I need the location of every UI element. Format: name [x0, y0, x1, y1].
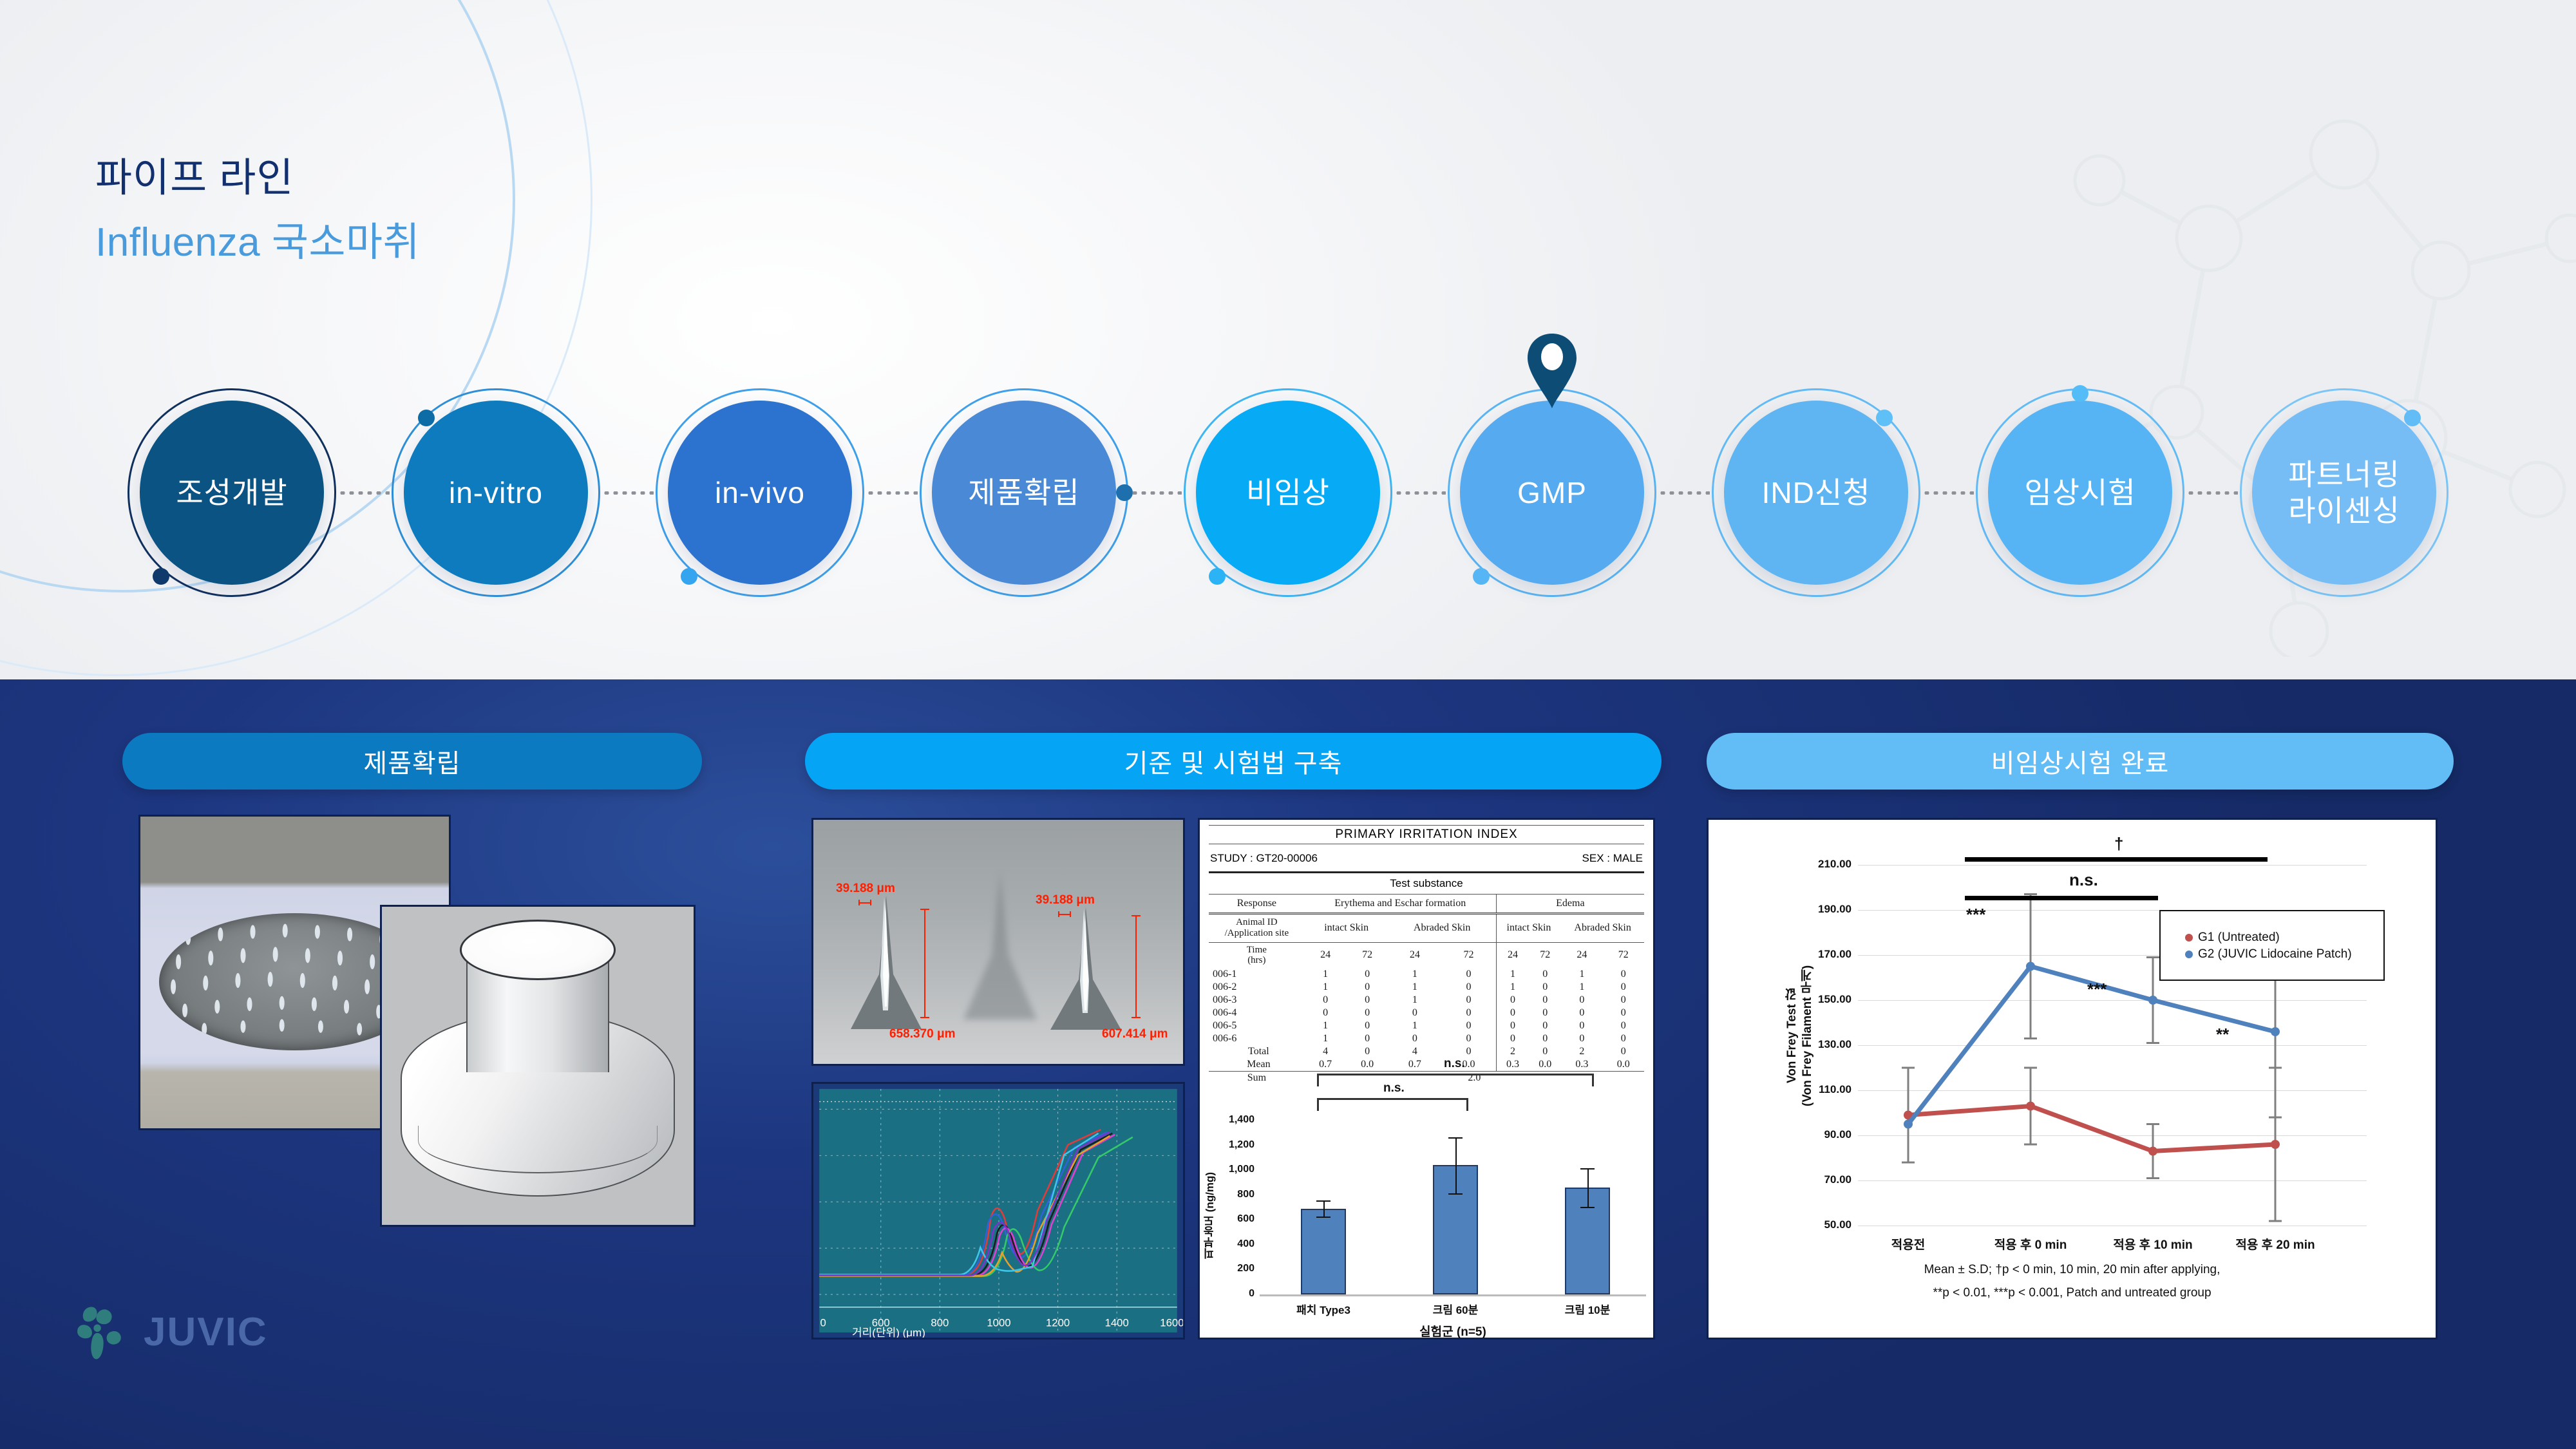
pipeline-stage-4[interactable]: 제품확립 — [918, 386, 1130, 599]
line-xtick-2: 적용 후 0 min — [1960, 1235, 2101, 1253]
logo-wordmark: JUVIC — [144, 1309, 268, 1355]
pipeline-stage-2[interactable]: in-vitro — [390, 386, 602, 599]
bar-chart-ns-inner: n.s. — [1383, 1081, 1405, 1095]
line-ytick: 110.00 — [1805, 1083, 1851, 1096]
stage-label: IND신청 — [1724, 401, 1908, 585]
piri-cell: 0 — [1347, 1019, 1388, 1032]
piri-cell: 0 — [1347, 1045, 1388, 1058]
piri-cell: 0 — [1603, 1019, 1644, 1032]
line-chart-legend: G1 (Untreated) G2 (JUVIC Lidocaine Patch… — [2159, 910, 2385, 981]
piri-cell: 0 — [1561, 1019, 1602, 1032]
piri-row: 006-400000000 — [1209, 1007, 1644, 1019]
piri-animal-label: Animal ID/Application site — [1209, 914, 1305, 943]
bar-errorcap — [1316, 1200, 1331, 1202]
width-rule-left-cap2 — [870, 900, 871, 905]
line-chart-footnote-2: **p < 0.01, ***p < 0.001, Patch and untr… — [1709, 1286, 2436, 1300]
piri-response-label: Response — [1209, 895, 1305, 914]
piri-cell: 0 — [1603, 1007, 1644, 1019]
banner-product-establishment: 제품확립 — [122, 733, 702, 790]
banner-method-development: 기준 및 시험법 구축 — [805, 733, 1662, 790]
height-rule-left-cap2 — [920, 1017, 929, 1018]
piri-cell: 0 — [1496, 1032, 1529, 1045]
piri-row-label: 006-6 — [1209, 1032, 1305, 1045]
piri-cell: 1 — [1388, 968, 1442, 981]
stage-marker-dot — [1473, 568, 1490, 585]
piri-cell: 0 — [1347, 994, 1388, 1007]
bar-chart-ylabel: 피부농도 (ng/mg) — [1202, 1104, 1218, 1259]
piri-cell: 0 — [1496, 1019, 1529, 1032]
stage-marker-dot — [418, 410, 435, 426]
piri-skin-1: Abraded Skin — [1388, 914, 1497, 943]
line-ytick: 70.00 — [1805, 1173, 1851, 1186]
piri-row-label: 006-5 — [1209, 1019, 1305, 1032]
pipeline-stage-5[interactable]: 비임상 — [1182, 386, 1394, 599]
piri-row: Total40402020 — [1209, 1045, 1644, 1058]
von-frey-line-chart: Von Frey Test 값(Von Frey Filament 무게) 21… — [1707, 818, 2438, 1340]
sem-height-left-label: 658.370 μm — [889, 1027, 955, 1041]
line-ytick: 50.00 — [1805, 1218, 1851, 1231]
stage-label: 제품확립 — [932, 401, 1116, 585]
piri-cell: 0 — [1305, 994, 1347, 1007]
piri-cell: 0 — [1347, 968, 1388, 981]
piri-cell: 0 — [1603, 1045, 1644, 1058]
line-gridline — [1858, 1226, 2367, 1226]
stage-label: GMP — [1460, 401, 1644, 585]
legend-label-g2: G2 (JUVIC Lidocaine Patch) — [2198, 947, 2352, 961]
bar-ytick: 400 — [1215, 1238, 1255, 1250]
bar-errorcap — [1580, 1207, 1595, 1208]
legend-dot-g1 — [2185, 934, 2193, 942]
line-xtick-1: 적용전 — [1837, 1235, 1979, 1253]
legend-item-g1: G1 (Untreated) — [2185, 931, 2383, 945]
piri-time-5: 72 — [1529, 942, 1561, 968]
width-rule-right-cap1 — [1058, 911, 1059, 917]
bar-chart-bracket-inner — [1317, 1098, 1468, 1111]
piri-cell: 1 — [1496, 981, 1529, 994]
piri-cell: 0 — [1441, 1007, 1496, 1019]
page-title: 파이프 라인 Influenza 국소마취 — [95, 153, 420, 267]
piri-cell: 0 — [1529, 1007, 1561, 1019]
applicator-device-render — [380, 905, 696, 1227]
piri-cell: 0 — [1347, 1007, 1388, 1019]
piri-row: 006-210101010 — [1209, 981, 1644, 994]
piri-cell: 0 — [1388, 1032, 1442, 1045]
stage-marker-dot — [2072, 385, 2088, 402]
height-rule-right-cap1 — [1132, 915, 1141, 916]
piri-cell: 2 — [1496, 1045, 1529, 1058]
sem-width-right-label: 39.188 μm — [1036, 893, 1095, 907]
pipeline-stage-1[interactable]: 조성개발 — [126, 386, 338, 599]
bar-chart-bracket-outer — [1317, 1074, 1594, 1086]
current-stage-pin-icon — [1524, 332, 1580, 410]
distance-profile-chart: 0 600 800 1000 1200 1400 1600 거리(단위) (μm… — [811, 1082, 1185, 1340]
pipeline-diagram: 조성개발in-vitroin-vivo제품확립비임상GMPIND신청임상시험파트… — [0, 386, 2576, 599]
piri-time-row: Time(hrs) 24 72 24 72 24 72 24 72 — [1209, 942, 1644, 968]
piri-cell: 0 — [1305, 1007, 1347, 1019]
device-base-band — [418, 1126, 657, 1173]
bar-ytick: 1,000 — [1215, 1164, 1255, 1175]
legend-dot-g2 — [2185, 951, 2193, 958]
pipeline-connector — [1658, 491, 1710, 495]
panel-product-establishment: 제품확립 — [122, 679, 702, 790]
piri-cell: 2 — [1561, 1045, 1602, 1058]
microneedle-background-icon — [952, 858, 1048, 1032]
pipeline-connector — [866, 491, 918, 495]
piri-cell: 0 — [1561, 1007, 1602, 1019]
height-rule-right-cap2 — [1132, 1017, 1141, 1018]
bar-ytick: 800 — [1215, 1189, 1255, 1200]
bar-category-3: 크림 10분 — [1529, 1301, 1645, 1317]
piri-cell: 1 — [1388, 994, 1442, 1007]
line-datapoint — [2148, 996, 2157, 1005]
piri-cell: 1 — [1388, 981, 1442, 994]
stage-marker-dot — [1209, 568, 1226, 585]
piri-time-7: 72 — [1603, 942, 1644, 968]
svg-text:1400: 1400 — [1105, 1316, 1129, 1329]
bar-ytick: 200 — [1215, 1263, 1255, 1274]
piri-cell: 0 — [1441, 994, 1496, 1007]
bar-category-2: 크림 60분 — [1397, 1301, 1513, 1317]
piri-cell: 0 — [1441, 1019, 1496, 1032]
pipeline-connector — [1394, 491, 1446, 495]
banner-preclinical-complete: 비임상시험 완료 — [1707, 733, 2454, 790]
pipeline-stage-9[interactable]: 파트너링라이센싱 — [2238, 386, 2450, 599]
piri-cell: 0 — [1529, 1032, 1561, 1045]
line-chart-sig-star3a: *** — [1966, 905, 1985, 925]
bar-errorbar-3 — [1587, 1168, 1589, 1207]
bar-errorcap — [1580, 1168, 1595, 1170]
line-datapoint — [2026, 1102, 2035, 1111]
piri-cell: 1 — [1305, 968, 1347, 981]
stage-marker-dot — [2404, 410, 2421, 426]
title-line-2: Influenza 국소마취 — [95, 218, 420, 268]
microneedle-left-icon — [844, 891, 928, 1039]
svg-text:800: 800 — [931, 1316, 949, 1329]
piri-test-substance: Test substance — [1209, 873, 1644, 894]
piri-row-label: 006-1 — [1209, 968, 1305, 981]
piri-cell: 0 — [1441, 1032, 1496, 1045]
piri-time-label: Time(hrs) — [1209, 942, 1305, 968]
height-rule-right — [1135, 915, 1137, 1018]
width-rule-left — [858, 902, 871, 904]
line-chart-ylabel: Von Frey Test 값(Von Frey Filament 무게) — [1785, 929, 1815, 1142]
line-chart-sig-dagger: † — [2114, 834, 2123, 854]
svg-text:1000: 1000 — [987, 1316, 1010, 1329]
bar-errorbar-2 — [1455, 1137, 1457, 1193]
piri-study: STUDY : GT20-00006 — [1210, 852, 1318, 865]
line-datapoint — [2148, 1147, 2157, 1156]
svg-text:0: 0 — [820, 1316, 826, 1329]
stage-label: 임상시험 — [1988, 401, 2172, 585]
line-xtick-4: 적용 후 20 min — [2204, 1235, 2346, 1253]
pipeline-stage-8[interactable]: 임상시험 — [1974, 386, 2186, 599]
piri-cell: 1 — [1496, 968, 1529, 981]
piri-time-4: 24 — [1496, 942, 1529, 968]
pipeline-connector — [1130, 491, 1182, 495]
stage-label: in-vivo — [668, 401, 852, 585]
piri-time-1: 72 — [1347, 942, 1388, 968]
device-top-cap — [460, 920, 616, 980]
pipeline-connector — [338, 491, 390, 495]
bar-errorcap — [1448, 1137, 1463, 1139]
bar-errorcap — [1448, 1193, 1463, 1195]
pipeline-stage-3[interactable]: in-vivo — [654, 386, 866, 599]
line-ytick: 150.00 — [1805, 993, 1851, 1006]
stage-label: 비임상 — [1196, 401, 1380, 585]
stage-marker-dot — [153, 568, 169, 585]
bar-chart: 피부농도 (ng/mg) 02004006008001,0001,2001,40… — [1198, 1059, 1655, 1340]
piri-row-label: Total — [1209, 1045, 1305, 1058]
piri-cell: 0 — [1529, 1045, 1561, 1058]
width-rule-left-cap1 — [858, 900, 860, 905]
line-ytick: 190.00 — [1805, 903, 1851, 916]
piri-cell: 0 — [1496, 994, 1529, 1007]
title-line-1: 파이프 라인 — [95, 153, 420, 204]
width-rule-right-cap2 — [1070, 911, 1071, 917]
stage-label: 조성개발 — [140, 401, 324, 585]
bar-ytick: 600 — [1215, 1213, 1255, 1225]
piri-skin-0: intact Skin — [1305, 914, 1388, 943]
stage-label: in-vitro — [404, 401, 588, 585]
sem-height-right-label: 607.414 μm — [1102, 1027, 1168, 1041]
piri-row: 006-610000000 — [1209, 1032, 1644, 1045]
piri-cell: 1 — [1388, 1019, 1442, 1032]
line-xtick-3: 적용 후 10 min — [2082, 1235, 2224, 1253]
line-chart-footnote-1: Mean ± S.D; †p < 0 min, 10 min, 20 min a… — [1709, 1263, 2436, 1277]
piri-cell: 0 — [1388, 1007, 1442, 1019]
line-datapoint — [1904, 1120, 1913, 1129]
piri-cell: 0 — [1529, 994, 1561, 1007]
piri-time-2: 24 — [1388, 942, 1442, 968]
piri-row-label: 006-4 — [1209, 1007, 1305, 1019]
piri-skin-3: Abraded Skin — [1561, 914, 1644, 943]
bar-chart-xlabel: 실험군 (n=5) — [1260, 1322, 1646, 1340]
panel-preclinical-complete: 비임상시험 완료 Von Frey Test 값(Von Frey Filame… — [1707, 679, 2454, 790]
pipeline-stage-7[interactable]: IND신청 — [1710, 386, 1922, 599]
piri-group-edema: Edema — [1496, 895, 1644, 914]
stage-marker-dot — [1876, 410, 1893, 426]
line-chart-sig-ns: n.s. — [2069, 870, 2098, 890]
piri-response-row: Response Erythema and Eschar formation E… — [1209, 895, 1644, 914]
piri-cell: 4 — [1388, 1045, 1442, 1058]
sem-microneedle-image: 39.188 μm 39.188 μm 658.370 μm 607.414 μ… — [811, 818, 1185, 1066]
piri-group-erythema: Erythema and Eschar formation — [1305, 895, 1497, 914]
piri-cell: 1 — [1305, 1019, 1347, 1032]
stage-marker-dot — [681, 568, 697, 585]
bar-ytick: 1,200 — [1215, 1139, 1255, 1151]
stage-label: 파트너링라이센싱 — [2252, 401, 2436, 585]
svg-text:1600: 1600 — [1160, 1316, 1183, 1329]
piri-cell: 1 — [1305, 981, 1347, 994]
sem-width-left-label: 39.188 μm — [836, 882, 895, 896]
bar-chart-axis — [1260, 1294, 1646, 1296]
bar-chart-ns-outer: n.s. — [1444, 1057, 1465, 1071]
piri-cell: 0 — [1529, 1019, 1561, 1032]
piri-row: 006-510100000 — [1209, 1019, 1644, 1032]
line-datapoint — [2271, 1027, 2280, 1036]
pipeline-connector — [2186, 491, 2238, 495]
juvic-logo: JUVIC — [68, 1301, 268, 1363]
piri-table: Response Erythema and Eschar formation E… — [1209, 894, 1644, 1084]
bar-ytick: 0 — [1215, 1288, 1255, 1300]
piri-cell: 0 — [1603, 1032, 1644, 1045]
piri-cell: 0 — [1561, 1032, 1602, 1045]
piri-cell: 0 — [1347, 981, 1388, 994]
height-rule-left — [924, 909, 925, 1018]
piri-cell: 0 — [1441, 968, 1496, 981]
piri-cell: 4 — [1305, 1045, 1347, 1058]
line-ytick: 210.00 — [1805, 858, 1851, 871]
legend-label-g1: G1 (Untreated) — [2198, 931, 2280, 945]
bar-errorcap — [1316, 1217, 1331, 1218]
piri-cell: 1 — [1561, 981, 1602, 994]
piri-cell: 0 — [1603, 994, 1644, 1007]
piri-cell: 0 — [1496, 1007, 1529, 1019]
piri-sex: SEX : MALE — [1582, 852, 1643, 865]
piri-title: PRIMARY IRRITATION INDEX — [1209, 826, 1644, 844]
height-rule-left-cap1 — [920, 909, 929, 910]
microneedle-right-icon — [1044, 902, 1128, 1039]
piri-cell: 1 — [1305, 1032, 1347, 1045]
piri-row-label: 006-2 — [1209, 981, 1305, 994]
piri-cell: 1 — [1561, 968, 1602, 981]
profile-xlabel: 거리(단위) (μm) — [852, 1323, 925, 1340]
line-series-1 — [1908, 1106, 2275, 1151]
piri-skin-row: Animal ID/Application site intact Skin A… — [1209, 914, 1644, 943]
bar-1 — [1301, 1209, 1346, 1294]
line-chart-sig-star2: ** — [2216, 1025, 2229, 1045]
piri-skin-2: intact Skin — [1496, 914, 1561, 943]
pipeline-connector — [1922, 491, 1974, 495]
piri-time-6: 24 — [1561, 942, 1602, 968]
flower-icon — [68, 1301, 129, 1363]
piri-time-0: 24 — [1305, 942, 1347, 968]
line-ytick: 130.00 — [1805, 1038, 1851, 1051]
line-datapoint — [2026, 962, 2035, 971]
piri-cell: 0 — [1441, 981, 1496, 994]
line-chart-sig-star3b: *** — [2087, 980, 2107, 999]
piri-cell: 0 — [1603, 968, 1644, 981]
piri-time-3: 72 — [1441, 942, 1496, 968]
legend-item-g2: G2 (JUVIC Lidocaine Patch) — [2185, 947, 2383, 961]
piri-row-label: 006-3 — [1209, 994, 1305, 1007]
piri-row: 006-110101010 — [1209, 968, 1644, 981]
piri-cell: 0 — [1441, 1045, 1496, 1058]
pipeline-stage-6[interactable]: GMP — [1446, 386, 1658, 599]
panel-method-development: 기준 및 시험법 구축 39.188 μm — [805, 679, 1662, 790]
piri-cell: 0 — [1529, 968, 1561, 981]
line-ytick: 170.00 — [1805, 948, 1851, 961]
line-datapoint — [2271, 1140, 2280, 1149]
bar-ytick: 1,400 — [1215, 1114, 1255, 1126]
profile-plot: 0 600 800 1000 1200 1400 1600 — [813, 1084, 1183, 1338]
results-section: 제품확립 — [0, 679, 2576, 1449]
header-section: 파이프 라인 Influenza 국소마취 조성개발in-vitroin-viv… — [0, 0, 2576, 679]
width-rule-right — [1058, 914, 1071, 915]
line-chart-sigbar-inner — [1965, 896, 2158, 900]
line-ytick: 90.00 — [1805, 1128, 1851, 1141]
bar-errorbar-1 — [1323, 1200, 1325, 1217]
bar-category-1: 패치 Type3 — [1265, 1301, 1381, 1317]
svg-text:1200: 1200 — [1046, 1316, 1070, 1329]
pipeline-connector — [602, 491, 654, 495]
line-chart-sigbar-outer — [1965, 857, 2268, 862]
piri-cell: 0 — [1561, 994, 1602, 1007]
piri-cell: 0 — [1529, 981, 1561, 994]
piri-cell: 0 — [1347, 1032, 1388, 1045]
piri-row: 006-300100000 — [1209, 994, 1644, 1007]
piri-cell: 0 — [1603, 981, 1644, 994]
